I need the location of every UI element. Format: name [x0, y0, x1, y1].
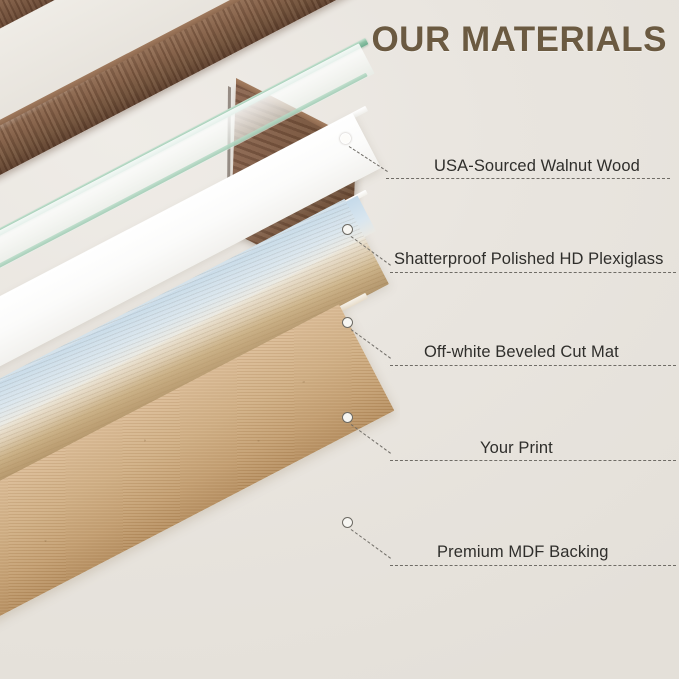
leader-rail-mdf [390, 565, 676, 566]
callout-marker-mat[interactable] [342, 317, 353, 328]
product-exploded-photo [0, 0, 400, 679]
callout-label-walnut: USA-Sourced Walnut Wood [434, 157, 640, 176]
leader-rail-plexiglass [390, 272, 676, 273]
leader-rail-print [390, 460, 676, 461]
callout-label-mdf: Premium MDF Backing [437, 543, 609, 562]
callout-marker-plexiglass[interactable] [342, 224, 353, 235]
leader-rail-mat [390, 365, 676, 366]
page-title: OUR MATERIALS [371, 20, 667, 60]
callout-label-plexiglass: Shatterproof Polished HD Plexiglass [394, 250, 663, 269]
infographic-canvas: OUR MATERIALS USA-Sourced Walnut Wood Sh… [0, 0, 679, 679]
callout-marker-print[interactable] [342, 412, 353, 423]
leader-rail-walnut [386, 178, 670, 179]
callout-label-mat: Off-white Beveled Cut Mat [424, 343, 619, 362]
callout-marker-mdf[interactable] [342, 517, 353, 528]
callout-label-print: Your Print [480, 439, 553, 458]
callout-marker-walnut[interactable] [340, 133, 351, 144]
